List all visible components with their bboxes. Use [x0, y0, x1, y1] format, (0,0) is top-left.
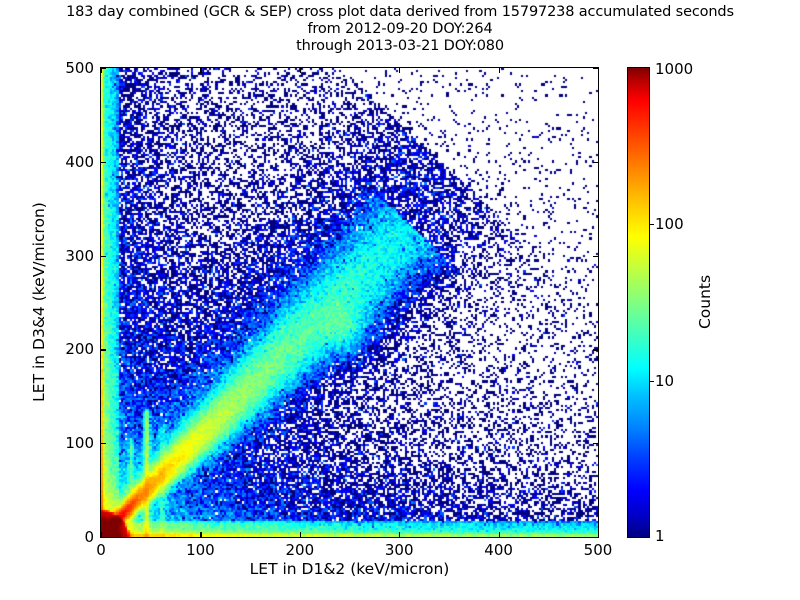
colorbar-gradient [627, 67, 650, 538]
chart-title: 183 day combined (GCR & SEP) cross plot … [0, 4, 800, 55]
plot-axes [100, 67, 599, 538]
title-line-1: 183 day combined (GCR & SEP) cross plot … [0, 4, 800, 21]
x-tick-label-200: 200 [285, 541, 314, 559]
y-tick-0 [593, 537, 598, 538]
y-tick-100 [593, 443, 598, 444]
colorbar-tick-100 [650, 224, 655, 225]
x-tick-100 [200, 68, 201, 73]
x-tick-label-0: 0 [96, 541, 106, 559]
colorbar-tick-label-10: 10 [655, 372, 674, 390]
x-tick-label-100: 100 [186, 541, 215, 559]
x-tick-label-400: 400 [484, 541, 513, 559]
colorbar-tick-10 [650, 381, 655, 382]
y-tick-100 [101, 443, 106, 444]
x-tick-500 [598, 68, 599, 73]
title-line-2: from 2012-09-20 DOY:264 [0, 21, 800, 38]
y-tick-400 [593, 162, 598, 163]
y-tick-500 [593, 68, 598, 69]
y-tick-400 [101, 162, 106, 163]
y-tick-300 [101, 256, 106, 257]
x-tick-400 [499, 68, 500, 73]
y-tick-label-100: 100 [38, 434, 94, 452]
y-tick-0 [101, 537, 106, 538]
y-tick-500 [101, 68, 106, 69]
y-tick-label-400: 400 [38, 153, 94, 171]
colorbar-container: 1101001000 Counts [627, 67, 650, 538]
figure-canvas: 183 day combined (GCR & SEP) cross plot … [0, 0, 800, 600]
colorbar-tick-label-100: 100 [655, 215, 684, 233]
x-tick-label-300: 300 [385, 541, 414, 559]
y-tick-300 [593, 256, 598, 257]
x-tick-300 [399, 68, 400, 73]
colorbar-tick-label-1: 1 [655, 527, 665, 545]
x-tick-300 [399, 532, 400, 537]
x-tick-100 [200, 532, 201, 537]
colorbar-tick-label-1000: 1000 [655, 60, 693, 78]
y-tick-label-0: 0 [38, 528, 94, 546]
x-tick-400 [499, 532, 500, 537]
title-line-3: through 2013-03-21 DOY:080 [0, 38, 800, 55]
x-tick-200 [300, 532, 301, 537]
x-tick-500 [598, 532, 599, 537]
y-tick-label-500: 500 [38, 59, 94, 77]
density-scatter-plot [101, 68, 598, 537]
x-tick-label-500: 500 [584, 541, 613, 559]
x-axis-label: LET in D1&2 (keV/micron) [100, 560, 599, 578]
colorbar-title-text: Counts [696, 275, 714, 329]
x-tick-200 [300, 68, 301, 73]
y-tick-200 [101, 349, 106, 350]
y-tick-200 [593, 349, 598, 350]
y-axis-label-text: LET in D3&4 (keV/micron) [30, 202, 48, 402]
